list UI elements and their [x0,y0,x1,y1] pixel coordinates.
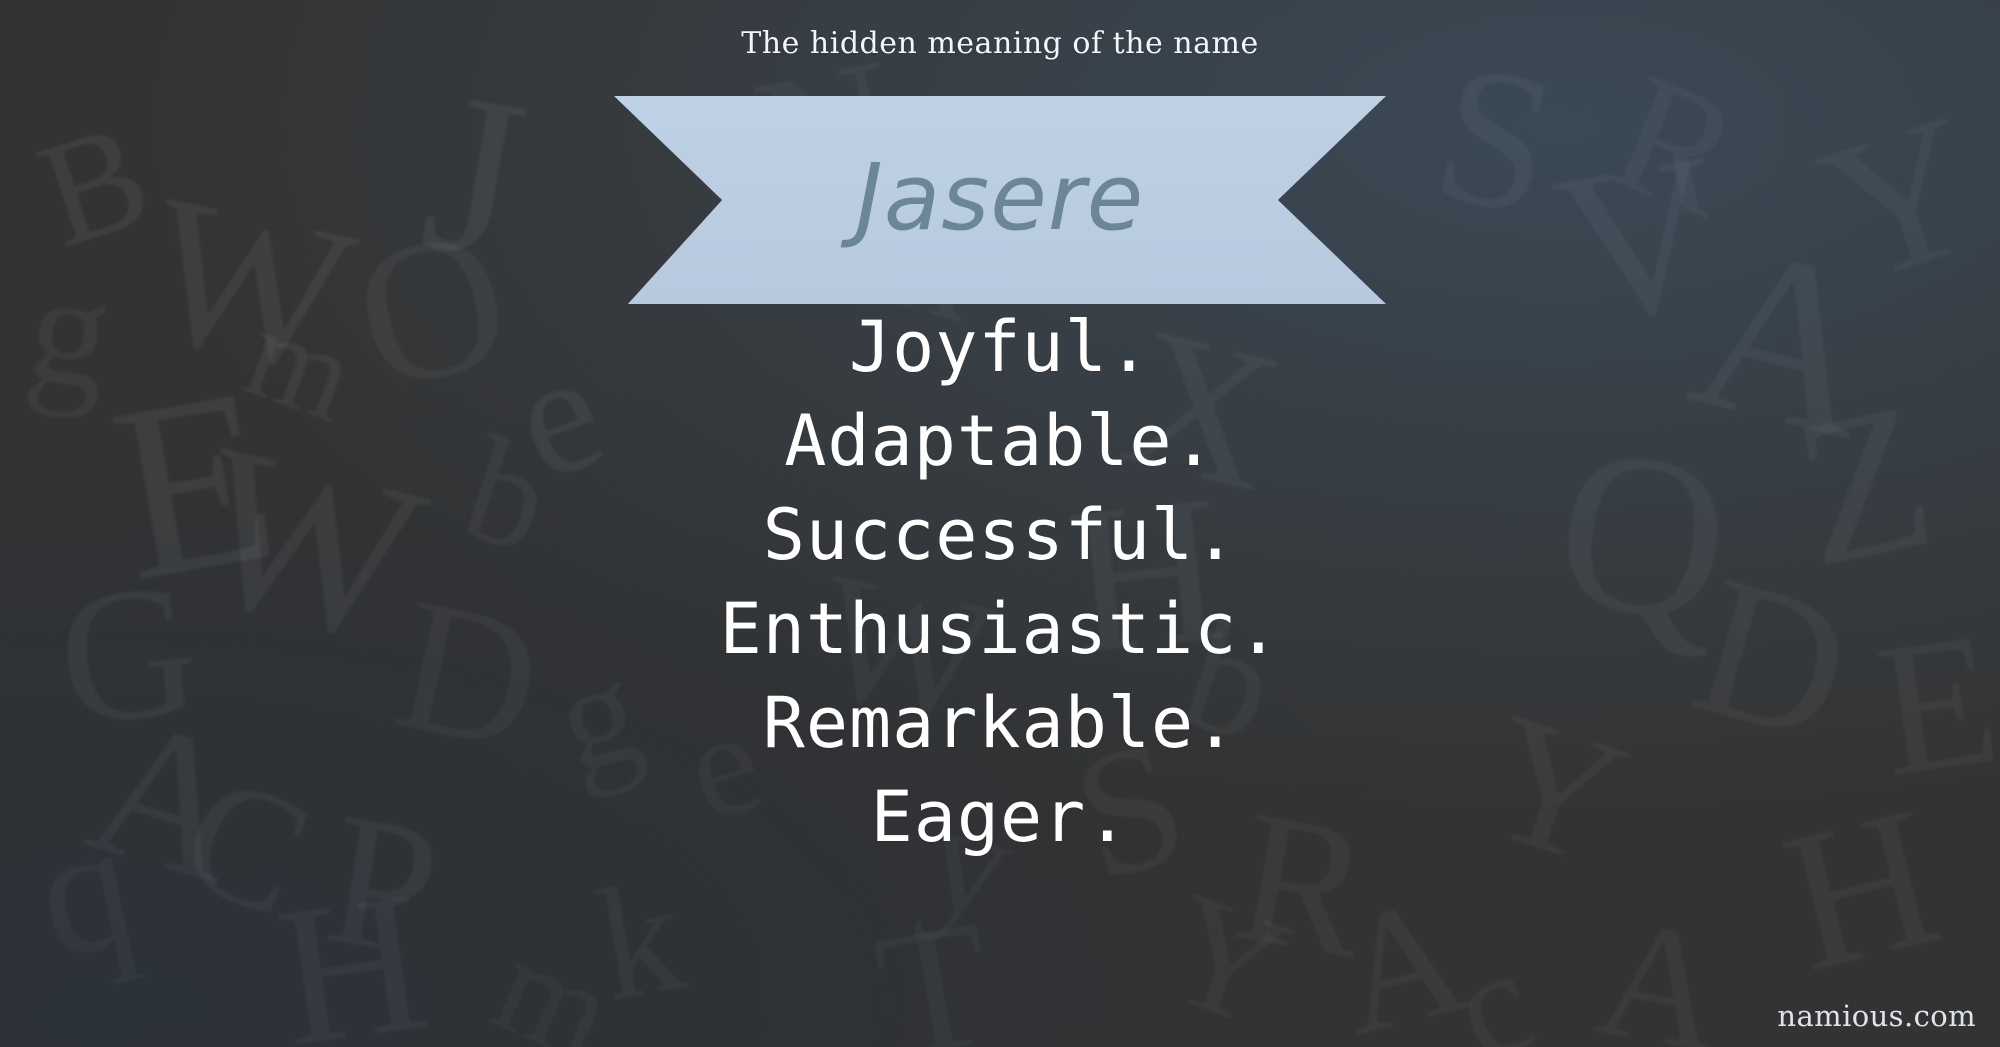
background-letter: Y [1803,83,2000,318]
trait-line: Adaptable. [0,394,2000,488]
site-watermark: namious.com [1777,999,1976,1033]
background-letter: A [1321,868,1481,1047]
trait-line: Eager. [0,770,2000,864]
background-letter: H [267,861,438,1047]
trait-line: Successful. [0,488,2000,582]
background-letter: Y [1146,865,1309,1047]
trait-list: Joyful.Adaptable.Successful.Enthusiastic… [0,300,2000,864]
name-text: Jasere [614,96,1386,304]
trait-line: Enthusiastic. [0,582,2000,676]
name-meaning-card: BWgEmGWAqCHJObeDgPkmNxaXHbSRAYSVARYQZDEY… [0,0,2000,1047]
background-letter: B [23,98,165,272]
name-ribbon-banner: Jasere [614,96,1386,304]
trait-line: Remarkable. [0,676,2000,770]
background-letter: J [411,54,539,296]
background-letter: R [1592,45,1761,245]
background-letter: T [865,892,1005,1047]
page-title: The hidden meaning of the name [0,26,2000,61]
background-letter: S [1420,31,1570,250]
background-letter: A [1586,891,1736,1047]
background-letter: c [1436,923,1550,1047]
background-letter: k [587,854,694,1025]
background-letter: m [476,914,632,1047]
trait-line: Joyful. [0,300,2000,394]
